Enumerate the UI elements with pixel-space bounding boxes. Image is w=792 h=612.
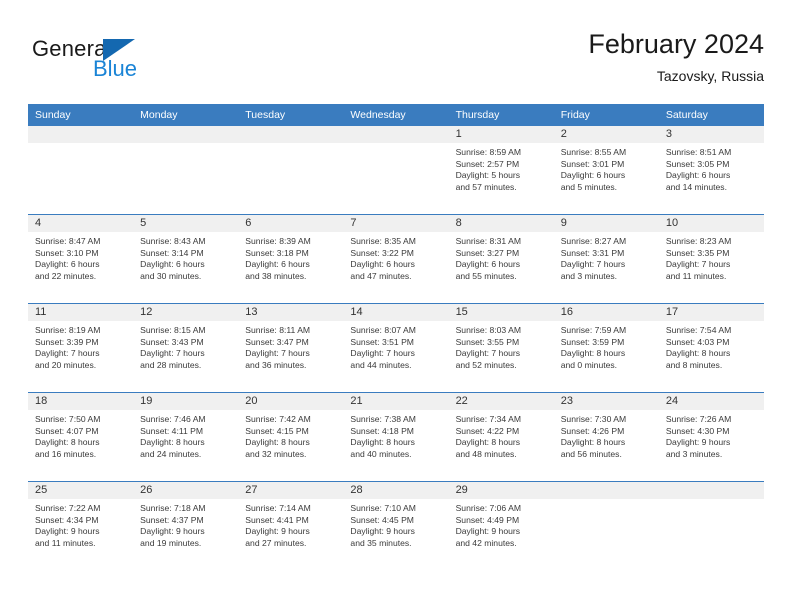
day-number: 9 xyxy=(554,215,659,232)
daylight-text-line2: and 19 minutes. xyxy=(140,538,232,550)
calendar-day-cell[interactable]: 16Sunrise: 7:59 AMSunset: 3:59 PMDayligh… xyxy=(554,304,659,392)
sunset-text: Sunset: 4:11 PM xyxy=(140,426,232,438)
page-title: February 2024 xyxy=(588,28,764,60)
day-number: 3 xyxy=(659,126,764,143)
daylight-text-line2: and 55 minutes. xyxy=(456,271,548,283)
calendar-day-cell[interactable]: 14Sunrise: 8:07 AMSunset: 3:51 PMDayligh… xyxy=(343,304,448,392)
day-number: 5 xyxy=(133,215,238,232)
day-details: Sunrise: 7:06 AMSunset: 4:49 PMDaylight:… xyxy=(449,499,554,549)
daylight-text-line1: Daylight: 7 hours xyxy=(245,348,337,360)
daylight-text-line2: and 11 minutes. xyxy=(666,271,758,283)
day-details: Sunrise: 8:11 AMSunset: 3:47 PMDaylight:… xyxy=(238,321,343,371)
page-header: General Blue February 2024 Tazovsky, Rus… xyxy=(28,28,764,96)
sunrise-text: Sunrise: 7:22 AM xyxy=(35,503,127,515)
calendar-day-cell[interactable]: 11Sunrise: 8:19 AMSunset: 3:39 PMDayligh… xyxy=(28,304,133,392)
calendar-day-cell[interactable]: 12Sunrise: 8:15 AMSunset: 3:43 PMDayligh… xyxy=(133,304,238,392)
calendar-day-cell-empty xyxy=(343,126,448,214)
sunrise-text: Sunrise: 8:07 AM xyxy=(350,325,442,337)
calendar-day-cell[interactable]: 2Sunrise: 8:55 AMSunset: 3:01 PMDaylight… xyxy=(554,126,659,214)
day-details: Sunrise: 8:31 AMSunset: 3:27 PMDaylight:… xyxy=(449,232,554,282)
day-number xyxy=(554,482,659,499)
daylight-text-line2: and 40 minutes. xyxy=(350,449,442,461)
day-number: 13 xyxy=(238,304,343,321)
daylight-text-line2: and 20 minutes. xyxy=(35,360,127,372)
sunrise-text: Sunrise: 8:43 AM xyxy=(140,236,232,248)
daylight-text-line1: Daylight: 8 hours xyxy=(245,437,337,449)
day-details: Sunrise: 7:22 AMSunset: 4:34 PMDaylight:… xyxy=(28,499,133,549)
sunrise-text: Sunrise: 7:46 AM xyxy=(140,414,232,426)
day-number: 4 xyxy=(28,215,133,232)
sunrise-text: Sunrise: 7:59 AM xyxy=(561,325,653,337)
day-number: 26 xyxy=(133,482,238,499)
daylight-text-line1: Daylight: 9 hours xyxy=(35,526,127,538)
calendar-day-cell[interactable]: 23Sunrise: 7:30 AMSunset: 4:26 PMDayligh… xyxy=(554,393,659,481)
calendar-page: General Blue February 2024 Tazovsky, Rus… xyxy=(0,0,792,612)
daylight-text-line1: Daylight: 7 hours xyxy=(140,348,232,360)
day-details: Sunrise: 8:03 AMSunset: 3:55 PMDaylight:… xyxy=(449,321,554,371)
daylight-text-line2: and 57 minutes. xyxy=(456,182,548,194)
day-number xyxy=(343,126,448,143)
sunset-text: Sunset: 4:49 PM xyxy=(456,515,548,527)
day-details: Sunrise: 7:38 AMSunset: 4:18 PMDaylight:… xyxy=(343,410,448,460)
daylight-text-line1: Daylight: 6 hours xyxy=(245,259,337,271)
calendar-day-cell-empty xyxy=(554,482,659,570)
day-details: Sunrise: 7:18 AMSunset: 4:37 PMDaylight:… xyxy=(133,499,238,549)
daylight-text-line2: and 3 minutes. xyxy=(561,271,653,283)
day-number: 11 xyxy=(28,304,133,321)
daylight-text-line1: Daylight: 8 hours xyxy=(350,437,442,449)
day-details: Sunrise: 7:10 AMSunset: 4:45 PMDaylight:… xyxy=(343,499,448,549)
day-number xyxy=(659,482,764,499)
day-details: Sunrise: 7:34 AMSunset: 4:22 PMDaylight:… xyxy=(449,410,554,460)
daylight-text-line1: Daylight: 9 hours xyxy=(666,437,758,449)
calendar-day-cell[interactable]: 29Sunrise: 7:06 AMSunset: 4:49 PMDayligh… xyxy=(449,482,554,570)
calendar-day-cell-empty xyxy=(28,126,133,214)
calendar-day-cell[interactable]: 4Sunrise: 8:47 AMSunset: 3:10 PMDaylight… xyxy=(28,215,133,303)
daylight-text-line2: and 47 minutes. xyxy=(350,271,442,283)
daylight-text-line1: Daylight: 8 hours xyxy=(666,348,758,360)
day-details: Sunrise: 7:50 AMSunset: 4:07 PMDaylight:… xyxy=(28,410,133,460)
calendar-day-cell[interactable]: 6Sunrise: 8:39 AMSunset: 3:18 PMDaylight… xyxy=(238,215,343,303)
day-number: 7 xyxy=(343,215,448,232)
day-number: 18 xyxy=(28,393,133,410)
calendar-weeks: 1Sunrise: 8:59 AMSunset: 2:57 PMDaylight… xyxy=(28,126,764,570)
calendar-grid: Sunday Monday Tuesday Wednesday Thursday… xyxy=(28,104,764,570)
sunrise-text: Sunrise: 8:51 AM xyxy=(666,147,758,159)
daylight-text-line1: Daylight: 9 hours xyxy=(350,526,442,538)
calendar-day-cell[interactable]: 1Sunrise: 8:59 AMSunset: 2:57 PMDaylight… xyxy=(449,126,554,214)
day-details xyxy=(238,143,343,147)
calendar-day-cell[interactable]: 17Sunrise: 7:54 AMSunset: 4:03 PMDayligh… xyxy=(659,304,764,392)
sunset-text: Sunset: 3:51 PM xyxy=(350,337,442,349)
sunset-text: Sunset: 4:03 PM xyxy=(666,337,758,349)
day-details xyxy=(659,499,764,503)
calendar-day-cell-empty xyxy=(238,126,343,214)
daylight-text-line1: Daylight: 6 hours xyxy=(561,170,653,182)
day-number: 24 xyxy=(659,393,764,410)
day-details: Sunrise: 7:42 AMSunset: 4:15 PMDaylight:… xyxy=(238,410,343,460)
daylight-text-line2: and 5 minutes. xyxy=(561,182,653,194)
day-number: 29 xyxy=(449,482,554,499)
sunrise-text: Sunrise: 7:38 AM xyxy=(350,414,442,426)
daylight-text-line2: and 44 minutes. xyxy=(350,360,442,372)
sunrise-text: Sunrise: 7:14 AM xyxy=(245,503,337,515)
daylight-text-line1: Daylight: 6 hours xyxy=(140,259,232,271)
day-details: Sunrise: 7:14 AMSunset: 4:41 PMDaylight:… xyxy=(238,499,343,549)
day-details: Sunrise: 8:47 AMSunset: 3:10 PMDaylight:… xyxy=(28,232,133,282)
day-details: Sunrise: 8:59 AMSunset: 2:57 PMDaylight:… xyxy=(449,143,554,193)
day-details: Sunrise: 8:07 AMSunset: 3:51 PMDaylight:… xyxy=(343,321,448,371)
sunrise-text: Sunrise: 8:35 AM xyxy=(350,236,442,248)
day-details: Sunrise: 8:19 AMSunset: 3:39 PMDaylight:… xyxy=(28,321,133,371)
sunrise-text: Sunrise: 7:54 AM xyxy=(666,325,758,337)
weekday-header-tuesday: Tuesday xyxy=(238,104,343,126)
day-details: Sunrise: 8:23 AMSunset: 3:35 PMDaylight:… xyxy=(659,232,764,282)
daylight-text-line2: and 35 minutes. xyxy=(350,538,442,550)
day-number: 21 xyxy=(343,393,448,410)
daylight-text-line1: Daylight: 7 hours xyxy=(666,259,758,271)
calendar-day-cell[interactable]: 9Sunrise: 8:27 AMSunset: 3:31 PMDaylight… xyxy=(554,215,659,303)
page-subtitle: Tazovsky, Russia xyxy=(588,66,764,86)
day-number xyxy=(133,126,238,143)
day-number: 28 xyxy=(343,482,448,499)
daylight-text-line1: Daylight: 7 hours xyxy=(350,348,442,360)
day-details: Sunrise: 8:51 AMSunset: 3:05 PMDaylight:… xyxy=(659,143,764,193)
sunset-text: Sunset: 4:26 PM xyxy=(561,426,653,438)
day-number: 10 xyxy=(659,215,764,232)
sunrise-text: Sunrise: 7:30 AM xyxy=(561,414,653,426)
day-number: 6 xyxy=(238,215,343,232)
day-number: 25 xyxy=(28,482,133,499)
day-number: 15 xyxy=(449,304,554,321)
sunset-text: Sunset: 4:15 PM xyxy=(245,426,337,438)
sunrise-text: Sunrise: 7:18 AM xyxy=(140,503,232,515)
sunset-text: Sunset: 3:10 PM xyxy=(35,248,127,260)
daylight-text-line2: and 36 minutes. xyxy=(245,360,337,372)
sunset-text: Sunset: 4:37 PM xyxy=(140,515,232,527)
calendar-day-cell[interactable]: 5Sunrise: 8:43 AMSunset: 3:14 PMDaylight… xyxy=(133,215,238,303)
daylight-text-line2: and 3 minutes. xyxy=(666,449,758,461)
daylight-text-line1: Daylight: 7 hours xyxy=(456,348,548,360)
day-number: 17 xyxy=(659,304,764,321)
sunrise-text: Sunrise: 7:34 AM xyxy=(456,414,548,426)
weekday-header-saturday: Saturday xyxy=(659,104,764,126)
daylight-text-line1: Daylight: 6 hours xyxy=(456,259,548,271)
sunrise-text: Sunrise: 8:31 AM xyxy=(456,236,548,248)
sunrise-text: Sunrise: 8:39 AM xyxy=(245,236,337,248)
calendar-day-cell[interactable]: 19Sunrise: 7:46 AMSunset: 4:11 PMDayligh… xyxy=(133,393,238,481)
daylight-text-line1: Daylight: 7 hours xyxy=(561,259,653,271)
calendar-week-row: 11Sunrise: 8:19 AMSunset: 3:39 PMDayligh… xyxy=(28,303,764,392)
sunset-text: Sunset: 4:18 PM xyxy=(350,426,442,438)
daylight-text-line1: Daylight: 8 hours xyxy=(456,437,548,449)
daylight-text-line1: Daylight: 8 hours xyxy=(140,437,232,449)
sunset-text: Sunset: 4:45 PM xyxy=(350,515,442,527)
calendar-day-cell[interactable]: 8Sunrise: 8:31 AMSunset: 3:27 PMDaylight… xyxy=(449,215,554,303)
daylight-text-line2: and 24 minutes. xyxy=(140,449,232,461)
daylight-text-line2: and 52 minutes. xyxy=(456,360,548,372)
calendar-day-cell[interactable]: 28Sunrise: 7:10 AMSunset: 4:45 PMDayligh… xyxy=(343,482,448,570)
sunrise-text: Sunrise: 7:06 AM xyxy=(456,503,548,515)
sunset-text: Sunset: 4:34 PM xyxy=(35,515,127,527)
weekday-header-row: Sunday Monday Tuesday Wednesday Thursday… xyxy=(28,104,764,126)
sunset-text: Sunset: 3:55 PM xyxy=(456,337,548,349)
calendar-day-cell[interactable]: 3Sunrise: 8:51 AMSunset: 3:05 PMDaylight… xyxy=(659,126,764,214)
sunrise-text: Sunrise: 7:42 AM xyxy=(245,414,337,426)
day-details: Sunrise: 8:27 AMSunset: 3:31 PMDaylight:… xyxy=(554,232,659,282)
calendar-week-row: 4Sunrise: 8:47 AMSunset: 3:10 PMDaylight… xyxy=(28,214,764,303)
sunset-text: Sunset: 3:39 PM xyxy=(35,337,127,349)
day-details: Sunrise: 8:15 AMSunset: 3:43 PMDaylight:… xyxy=(133,321,238,371)
day-number: 23 xyxy=(554,393,659,410)
daylight-text-line2: and 22 minutes. xyxy=(35,271,127,283)
sunrise-text: Sunrise: 8:15 AM xyxy=(140,325,232,337)
day-number xyxy=(28,126,133,143)
calendar-day-cell[interactable]: 21Sunrise: 7:38 AMSunset: 4:18 PMDayligh… xyxy=(343,393,448,481)
day-details: Sunrise: 8:35 AMSunset: 3:22 PMDaylight:… xyxy=(343,232,448,282)
sunset-text: Sunset: 3:35 PM xyxy=(666,248,758,260)
daylight-text-line2: and 30 minutes. xyxy=(140,271,232,283)
calendar-day-cell[interactable]: 18Sunrise: 7:50 AMSunset: 4:07 PMDayligh… xyxy=(28,393,133,481)
day-number: 12 xyxy=(133,304,238,321)
sunset-text: Sunset: 3:43 PM xyxy=(140,337,232,349)
day-details: Sunrise: 8:55 AMSunset: 3:01 PMDaylight:… xyxy=(554,143,659,193)
day-details xyxy=(28,143,133,147)
day-number: 27 xyxy=(238,482,343,499)
day-details xyxy=(343,143,448,147)
calendar-day-cell[interactable]: 15Sunrise: 8:03 AMSunset: 3:55 PMDayligh… xyxy=(449,304,554,392)
day-details: Sunrise: 7:54 AMSunset: 4:03 PMDaylight:… xyxy=(659,321,764,371)
day-details: Sunrise: 8:39 AMSunset: 3:18 PMDaylight:… xyxy=(238,232,343,282)
day-details: Sunrise: 7:46 AMSunset: 4:11 PMDaylight:… xyxy=(133,410,238,460)
title-block: February 2024 Tazovsky, Russia xyxy=(588,28,764,86)
daylight-text-line2: and 42 minutes. xyxy=(456,538,548,550)
calendar-day-cell[interactable]: 7Sunrise: 8:35 AMSunset: 3:22 PMDaylight… xyxy=(343,215,448,303)
weekday-header-thursday: Thursday xyxy=(449,104,554,126)
daylight-text-line2: and 48 minutes. xyxy=(456,449,548,461)
daylight-text-line2: and 56 minutes. xyxy=(561,449,653,461)
sunset-text: Sunset: 3:31 PM xyxy=(561,248,653,260)
calendar-day-cell[interactable]: 25Sunrise: 7:22 AMSunset: 4:34 PMDayligh… xyxy=(28,482,133,570)
sunset-text: Sunset: 3:59 PM xyxy=(561,337,653,349)
day-number: 2 xyxy=(554,126,659,143)
day-details: Sunrise: 7:59 AMSunset: 3:59 PMDaylight:… xyxy=(554,321,659,371)
daylight-text-line1: Daylight: 8 hours xyxy=(35,437,127,449)
calendar-day-cell[interactable]: 22Sunrise: 7:34 AMSunset: 4:22 PMDayligh… xyxy=(449,393,554,481)
calendar-day-cell[interactable]: 26Sunrise: 7:18 AMSunset: 4:37 PMDayligh… xyxy=(133,482,238,570)
daylight-text-line1: Daylight: 9 hours xyxy=(140,526,232,538)
daylight-text-line2: and 28 minutes. xyxy=(140,360,232,372)
sunrise-text: Sunrise: 7:10 AM xyxy=(350,503,442,515)
daylight-text-line2: and 16 minutes. xyxy=(35,449,127,461)
daylight-text-line1: Daylight: 5 hours xyxy=(456,170,548,182)
day-details: Sunrise: 7:30 AMSunset: 4:26 PMDaylight:… xyxy=(554,410,659,460)
sunset-text: Sunset: 3:47 PM xyxy=(245,337,337,349)
daylight-text-line1: Daylight: 6 hours xyxy=(350,259,442,271)
day-details: Sunrise: 8:43 AMSunset: 3:14 PMDaylight:… xyxy=(133,232,238,282)
sunrise-text: Sunrise: 8:55 AM xyxy=(561,147,653,159)
day-details xyxy=(554,499,659,503)
logo-text-blue: Blue xyxy=(93,56,137,82)
day-details xyxy=(133,143,238,147)
sunrise-text: Sunrise: 7:50 AM xyxy=(35,414,127,426)
sunset-text: Sunset: 3:22 PM xyxy=(350,248,442,260)
daylight-text-line1: Daylight: 6 hours xyxy=(666,170,758,182)
sunset-text: Sunset: 4:22 PM xyxy=(456,426,548,438)
calendar-day-cell-empty xyxy=(133,126,238,214)
sunset-text: Sunset: 4:07 PM xyxy=(35,426,127,438)
sunset-text: Sunset: 2:57 PM xyxy=(456,159,548,171)
sunset-text: Sunset: 3:14 PM xyxy=(140,248,232,260)
calendar-day-cell[interactable]: 27Sunrise: 7:14 AMSunset: 4:41 PMDayligh… xyxy=(238,482,343,570)
day-number: 22 xyxy=(449,393,554,410)
daylight-text-line2: and 38 minutes. xyxy=(245,271,337,283)
daylight-text-line1: Daylight: 9 hours xyxy=(245,526,337,538)
daylight-text-line2: and 11 minutes. xyxy=(35,538,127,550)
sunset-text: Sunset: 3:05 PM xyxy=(666,159,758,171)
sunrise-text: Sunrise: 8:27 AM xyxy=(561,236,653,248)
general-blue-logo[interactable]: General Blue xyxy=(32,36,232,92)
day-number: 20 xyxy=(238,393,343,410)
calendar-day-cell[interactable]: 10Sunrise: 8:23 AMSunset: 3:35 PMDayligh… xyxy=(659,215,764,303)
calendar-day-cell[interactable]: 13Sunrise: 8:11 AMSunset: 3:47 PMDayligh… xyxy=(238,304,343,392)
day-number: 14 xyxy=(343,304,448,321)
sunrise-text: Sunrise: 8:23 AM xyxy=(666,236,758,248)
calendar-day-cell-empty xyxy=(659,482,764,570)
day-number xyxy=(238,126,343,143)
daylight-text-line1: Daylight: 7 hours xyxy=(35,348,127,360)
daylight-text-line2: and 14 minutes. xyxy=(666,182,758,194)
daylight-text-line2: and 8 minutes. xyxy=(666,360,758,372)
daylight-text-line1: Daylight: 9 hours xyxy=(456,526,548,538)
sunrise-text: Sunrise: 8:11 AM xyxy=(245,325,337,337)
sunset-text: Sunset: 4:30 PM xyxy=(666,426,758,438)
calendar-week-row: 18Sunrise: 7:50 AMSunset: 4:07 PMDayligh… xyxy=(28,392,764,481)
weekday-header-friday: Friday xyxy=(554,104,659,126)
sunset-text: Sunset: 3:27 PM xyxy=(456,248,548,260)
sunrise-text: Sunrise: 8:59 AM xyxy=(456,147,548,159)
weekday-header-sunday: Sunday xyxy=(28,104,133,126)
sunrise-text: Sunrise: 8:19 AM xyxy=(35,325,127,337)
daylight-text-line1: Daylight: 8 hours xyxy=(561,348,653,360)
calendar-day-cell[interactable]: 20Sunrise: 7:42 AMSunset: 4:15 PMDayligh… xyxy=(238,393,343,481)
sunrise-text: Sunrise: 8:03 AM xyxy=(456,325,548,337)
daylight-text-line2: and 32 minutes. xyxy=(245,449,337,461)
sunrise-text: Sunrise: 8:47 AM xyxy=(35,236,127,248)
calendar-week-row: 25Sunrise: 7:22 AMSunset: 4:34 PMDayligh… xyxy=(28,481,764,570)
day-number: 16 xyxy=(554,304,659,321)
sunset-text: Sunset: 3:01 PM xyxy=(561,159,653,171)
sunset-text: Sunset: 3:18 PM xyxy=(245,248,337,260)
sunset-text: Sunset: 4:41 PM xyxy=(245,515,337,527)
daylight-text-line1: Daylight: 8 hours xyxy=(561,437,653,449)
weekday-header-monday: Monday xyxy=(133,104,238,126)
daylight-text-line2: and 0 minutes. xyxy=(561,360,653,372)
day-number: 19 xyxy=(133,393,238,410)
day-number: 1 xyxy=(449,126,554,143)
daylight-text-line1: Daylight: 6 hours xyxy=(35,259,127,271)
calendar-week-row: 1Sunrise: 8:59 AMSunset: 2:57 PMDaylight… xyxy=(28,126,764,214)
weekday-header-wednesday: Wednesday xyxy=(343,104,448,126)
sunrise-text: Sunrise: 7:26 AM xyxy=(666,414,758,426)
day-details: Sunrise: 7:26 AMSunset: 4:30 PMDaylight:… xyxy=(659,410,764,460)
calendar-day-cell[interactable]: 24Sunrise: 7:26 AMSunset: 4:30 PMDayligh… xyxy=(659,393,764,481)
day-number: 8 xyxy=(449,215,554,232)
daylight-text-line2: and 27 minutes. xyxy=(245,538,337,550)
